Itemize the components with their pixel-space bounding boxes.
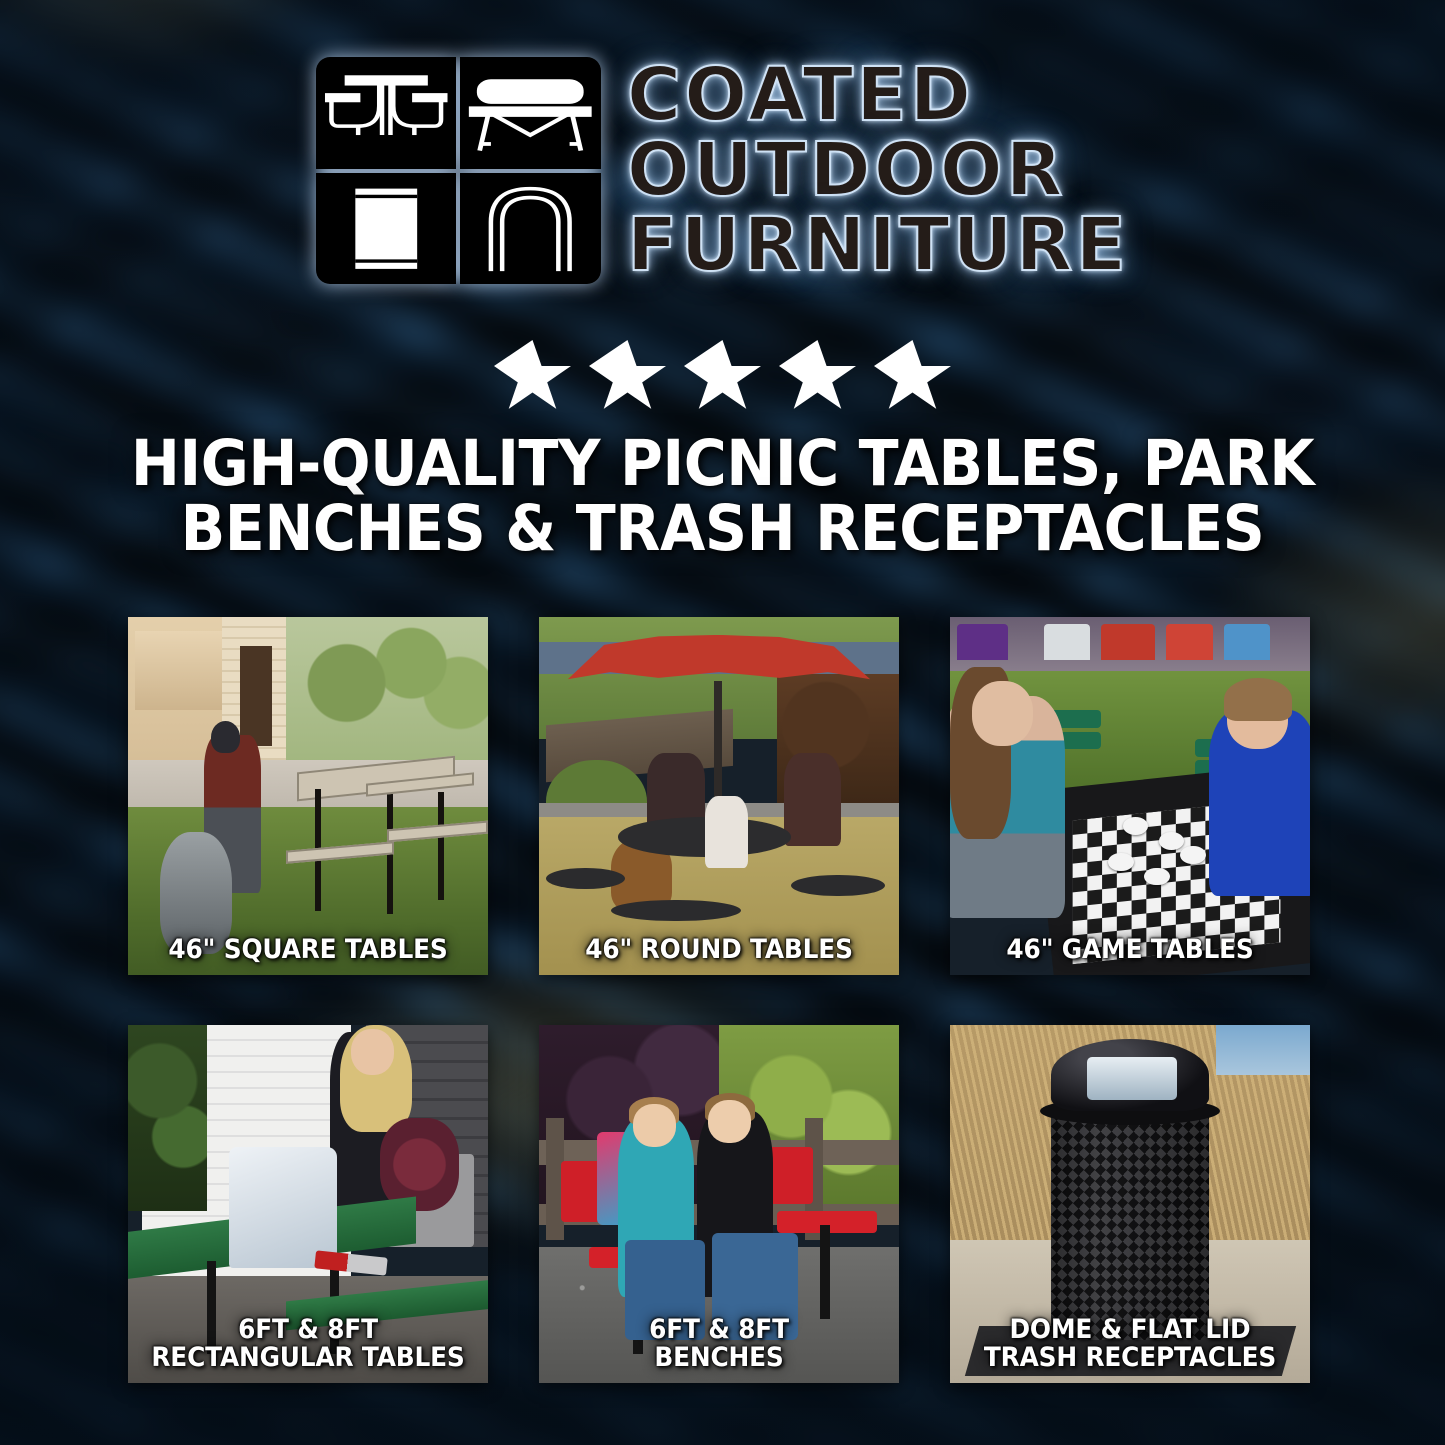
brand-logo: COATED OUTDOOR FURNITURE [0,57,1445,284]
page-headline: HIGH-QUALITY PICNIC TABLES, PARK BENCHES… [51,432,1395,562]
caption-line-1: 46" ROUND TABLES [559,936,879,965]
caption-line-1: 6FT & 8FT [148,1316,468,1345]
picnic-table-icon [316,57,457,169]
product-tile-trash-receptacles[interactable]: DOME & FLAT LID TRASH RECEPTACLES [950,1025,1310,1383]
product-tile-game-tables[interactable]: 46" GAME TABLES [950,617,1310,975]
logo-line-1: COATED [627,59,1129,132]
product-photo [128,617,488,975]
product-caption: 46" ROUND TABLES [553,936,884,965]
product-caption: 6FT & 8FT RECTANGULAR TABLES [142,1316,473,1373]
product-tile-square-tables[interactable]: 46" SQUARE TABLES [128,617,488,975]
logo-wordmark: COATED OUTDOOR FURNITURE [627,59,1129,283]
product-tile-benches[interactable]: 6FT & 8FT BENCHES [539,1025,899,1383]
caption-line-1: 6FT & 8FT [559,1316,879,1345]
star-icon [874,340,951,414]
product-photo [950,617,1310,975]
headline-line-2: BENCHES & TRASH RECEPTACLES [51,497,1395,562]
arch-bike-rack-icon [460,173,601,285]
headline-line-1: HIGH-QUALITY PICNIC TABLES, PARK [131,427,1314,500]
caption-line-2: TRASH RECEPTACLES [970,1344,1290,1373]
caption-line-2: RECTANGULAR TABLES [148,1344,468,1373]
product-caption: DOME & FLAT LID TRASH RECEPTACLES [964,1316,1295,1373]
caption-line-1: 46" GAME TABLES [970,936,1290,965]
caption-line-1: DOME & FLAT LID [970,1316,1290,1345]
logo-icon-grid [316,57,601,284]
star-icon [779,340,856,414]
product-photo [539,617,899,975]
caption-line-1: 46" SQUARE TABLES [148,936,468,965]
star-icon [494,340,571,414]
product-tile-round-tables[interactable]: 46" ROUND TABLES [539,617,899,975]
page-content: COATED OUTDOOR FURNITURE HIGH-QUALITY PI… [0,0,1445,1445]
product-grid: 46" SQUARE TABLES [128,617,1330,1383]
logo-line-2: OUTDOOR [627,134,1129,207]
trash-receptacle-icon [316,173,457,285]
star-rating [0,340,1445,414]
bench-icon [460,57,601,169]
caption-line-2: BENCHES [559,1344,879,1373]
product-caption: 6FT & 8FT BENCHES [553,1316,884,1373]
logo-line-3: FURNITURE [627,209,1129,282]
product-caption: 46" SQUARE TABLES [142,936,473,965]
product-tile-rectangular-tables[interactable]: 6FT & 8FT RECTANGULAR TABLES [128,1025,488,1383]
star-icon [589,340,666,414]
star-icon [684,340,761,414]
product-caption: 46" GAME TABLES [964,936,1295,965]
